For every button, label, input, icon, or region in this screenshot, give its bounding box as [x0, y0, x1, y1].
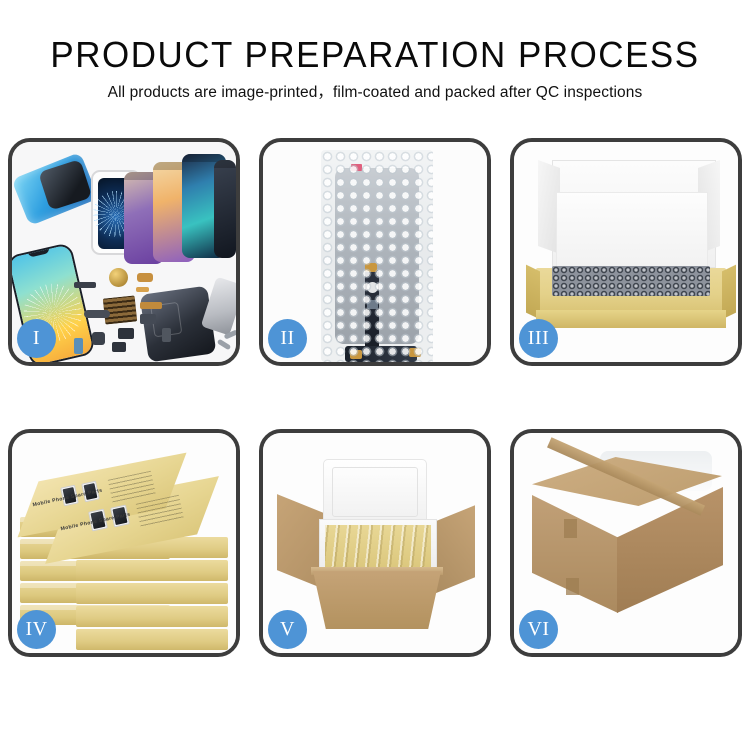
process-step-card-6[interactable]: VI: [510, 429, 742, 657]
stacked-box-right-3: [76, 583, 228, 604]
process-step-card-3[interactable]: III: [510, 138, 742, 366]
spare-part-g: [140, 314, 156, 324]
step-badge-5: V: [268, 610, 307, 649]
stacked-box-right-2: [76, 560, 228, 581]
spare-part-e: [118, 328, 134, 339]
screw-a: [217, 339, 232, 351]
spare-part-h: [92, 332, 105, 345]
carton-left-face: [532, 495, 618, 613]
step-badge-3: III: [519, 319, 558, 358]
kraft-box-front: [536, 310, 726, 328]
packed-retail-boxes: [325, 525, 431, 567]
step-badge-2: II: [268, 319, 307, 358]
process-step-card-5[interactable]: V: [259, 429, 491, 657]
carton-seam-upper: [564, 519, 577, 538]
step-badge-4: IV: [17, 610, 56, 649]
step-badge-1: I: [17, 319, 56, 358]
foam-sheet: [556, 192, 708, 268]
step-badge-6: VI: [519, 610, 558, 649]
bubble-texture: [321, 150, 433, 362]
stacked-box-right-5: [76, 629, 228, 650]
spare-part-f: [140, 302, 162, 309]
phone-icon-d: [214, 160, 236, 258]
spare-part-b: [137, 273, 153, 282]
page-title: PRODUCT PREPARATION PROCESS: [11, 34, 739, 76]
repair-tool-icon: [201, 277, 236, 336]
screen-protector-film-icon: [12, 152, 99, 226]
stacked-box-right-4: [76, 606, 228, 627]
process-step-card-4[interactable]: Mobile Phone Spare Parts Mobile Phone Sp…: [8, 429, 240, 657]
foam-lid: [323, 459, 427, 525]
page-subtitle: All products are image-printed，film-coat…: [0, 83, 750, 103]
speaker-coil-icon: [109, 268, 128, 287]
product-preparation-process-page: PRODUCT PREPARATION PROCESS All products…: [0, 0, 750, 750]
process-step-card-1[interactable]: I: [8, 138, 240, 366]
spare-part-i: [112, 342, 126, 352]
process-step-card-2[interactable]: II: [259, 138, 491, 366]
spare-part-a: [74, 282, 96, 288]
carton-right-face: [617, 487, 723, 613]
carton-seam-lower: [566, 578, 579, 595]
spare-part-j: [74, 338, 83, 354]
process-step-grid: I II: [8, 138, 742, 657]
carton-body: [313, 571, 441, 629]
bubble-wrapped-contents: [552, 266, 710, 296]
spare-part-c: [136, 287, 149, 292]
spare-part-k: [162, 328, 171, 342]
header: PRODUCT PREPARATION PROCESS All products…: [0, 34, 750, 103]
spare-part-d: [84, 310, 110, 318]
bubble-wrap-bag: [321, 150, 433, 362]
